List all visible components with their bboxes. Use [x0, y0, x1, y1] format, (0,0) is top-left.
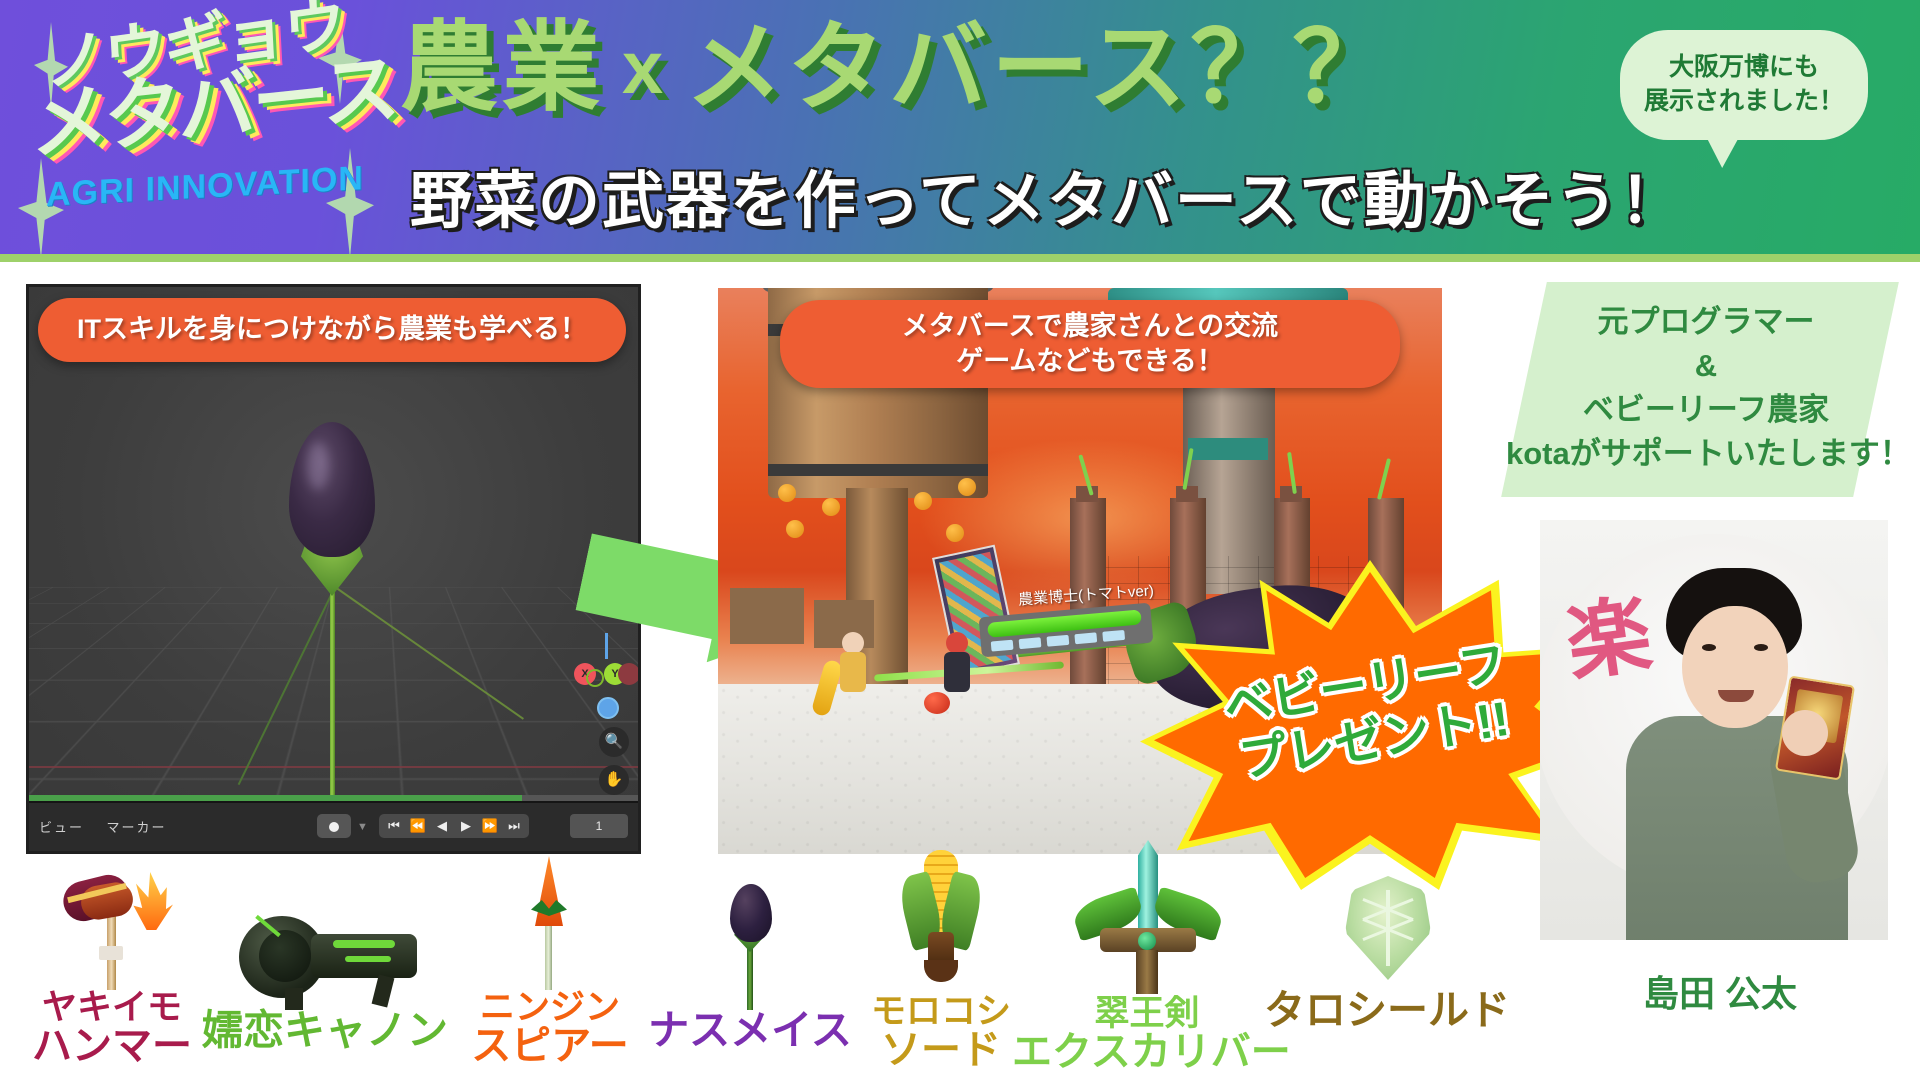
- scene-barrel-band: [768, 464, 988, 476]
- weapon-label: タロシールド: [1262, 990, 1512, 1032]
- suiou-excalibur-icon: [1052, 840, 1242, 996]
- avatar: [940, 632, 974, 702]
- gizmo-z-axis[interactable]: [597, 697, 619, 719]
- page-title: 農業xメタバース？？: [400, 16, 1580, 119]
- weapon-label-line2: タロシールド: [1262, 990, 1512, 1032]
- gizmo-x-negative[interactable]: [618, 663, 638, 685]
- profile-line-4: kotaがサポートいたします！: [1506, 432, 1906, 476]
- scene-stall: [730, 588, 804, 644]
- header-banner: ノウギョウ メタバース AGRI INNOVATION 農業xメタバース？？ 野…: [0, 0, 1920, 262]
- model-eggplant-stem: [330, 587, 335, 799]
- avatar-body: [840, 652, 866, 692]
- scene-orb: [786, 520, 804, 538]
- weapon-label-line1: モロコシ: [848, 994, 1034, 1030]
- record-button[interactable]: [317, 814, 351, 838]
- taro-shield-icon: [1327, 872, 1447, 990]
- menu-marker[interactable]: マーカー: [106, 820, 166, 835]
- weapon-item: 翠王剣 エクスカリバー: [1012, 840, 1282, 1072]
- weapon-label-line1: 翠王剣: [1012, 996, 1282, 1032]
- title-part-1: 農業: [400, 12, 604, 122]
- left-feature-text: ITスキルを身につけながら農業も学べる！: [77, 312, 587, 347]
- tsumagoi-cannon-icon: [225, 900, 425, 1010]
- scene-merlon: [1176, 486, 1198, 502]
- nasu-mace-icon: [690, 884, 810, 1010]
- profile-line-3: ベビーリーフ農家: [1506, 388, 1906, 432]
- scene-orb: [778, 484, 796, 502]
- gizmo-y-negative[interactable]: [586, 669, 604, 687]
- page-subtitle: 野菜の武器を作ってメタバースで動かそう！: [410, 150, 1610, 240]
- morokoshi-sword-icon: [876, 848, 1006, 994]
- menu-view[interactable]: ビュー: [39, 820, 84, 835]
- weapon-label: ニンジン スピアー: [462, 990, 638, 1066]
- weapon-item: モロコシ ソード: [848, 848, 1034, 1070]
- scene-sprout: [1377, 458, 1391, 500]
- weapon-label-line2: エクスカリバー: [1012, 1032, 1282, 1073]
- profile-line-1: 元プログラマー: [1506, 300, 1906, 344]
- weapon-label-line2: ハンマー: [14, 1026, 210, 1067]
- jump-end-icon[interactable]: ⏭: [503, 818, 525, 834]
- title-part-2: メタバース？？: [685, 12, 1394, 122]
- avatar-head: [842, 632, 864, 654]
- bubble-tail: [1696, 132, 1742, 168]
- hud-slot: [1074, 632, 1097, 644]
- scene-orb: [914, 492, 932, 510]
- left-feature-banner: ITスキルを身につけながら農業も学べる！: [38, 298, 626, 362]
- current-frame-field[interactable]: 1: [570, 814, 628, 838]
- weapon-label: モロコシ ソード: [848, 994, 1034, 1070]
- hand-icon[interactable]: ✋: [599, 765, 629, 795]
- yakiimo-hammer-icon: [37, 872, 187, 990]
- hud-slot: [1102, 630, 1125, 642]
- presenter-photo: 楽: [1540, 520, 1888, 940]
- header-bottom-band: [0, 254, 1920, 262]
- logo-tagline: AGRI INNOVATION: [46, 160, 346, 215]
- expo-callout-bubble: 大阪万博にも 展示されました！: [1620, 30, 1868, 140]
- transport-controls[interactable]: ⏮ ⏪ ◀ ▶ ⏩ ⏭: [379, 814, 529, 838]
- weapon-label-line2: ソード: [848, 1030, 1034, 1071]
- weapon-label-line1: ヤキイモ: [14, 990, 210, 1026]
- photo-hand: [1782, 710, 1828, 756]
- photo-eye: [1702, 644, 1716, 651]
- right-feature-line-2: ゲームなどもできる！: [956, 344, 1224, 379]
- scene-orb: [958, 478, 976, 496]
- weapon-lineup: ヤキイモ ハンマー 嬬恋キャノン: [0, 862, 1530, 1080]
- photo-face: [1682, 606, 1788, 728]
- next-keyframe-icon[interactable]: ⏩: [479, 818, 501, 834]
- scene-orb: [946, 524, 964, 542]
- weapon-label-line2: スピアー: [462, 1026, 638, 1067]
- model-eggplant-body: [289, 422, 375, 557]
- blender-timeline-bar: ビュー マーカー ▼ ⏮ ⏪ ◀ ▶ ⏩ ⏭ 1: [29, 801, 638, 851]
- weapon-label: 翠王剣 エクスカリバー: [1012, 996, 1282, 1072]
- zoom-icon[interactable]: 🔍: [599, 727, 629, 757]
- profile-description: 元プログラマー & ベビーリーフ農家 kotaがサポートいたします！: [1506, 300, 1906, 476]
- photo-eye: [1754, 644, 1768, 651]
- play-reverse-icon[interactable]: ◀: [431, 818, 453, 834]
- timeline-menus[interactable]: ビュー マーカー: [39, 817, 166, 836]
- title-x-symbol: x: [604, 26, 685, 109]
- avatar-head: [946, 632, 968, 654]
- weapon-item: 嬬恋キャノン: [200, 900, 450, 1052]
- avatar: [836, 632, 870, 702]
- hud-slot: [1019, 637, 1042, 649]
- jump-start-icon[interactable]: ⏮: [383, 818, 405, 834]
- prev-keyframe-icon[interactable]: ⏪: [407, 818, 429, 834]
- weapon-item: ニンジン スピアー: [462, 854, 638, 1066]
- weapon-label: 嬬恋キャノン: [200, 1010, 450, 1052]
- bubble-line-2: 展示されました！: [1644, 85, 1844, 119]
- weapon-item: ヤキイモ ハンマー: [14, 872, 210, 1066]
- weapon-label: ヤキイモ ハンマー: [14, 990, 210, 1066]
- model-eggplant-highlight: [307, 442, 329, 490]
- scene-orb: [822, 498, 840, 516]
- weapon-item: タロシールド: [1262, 872, 1512, 1032]
- gizmo-z-stem: [605, 633, 608, 659]
- blender-viewport: X Y 🔍 ✋ 📷 ▦: [29, 287, 638, 805]
- viewport-axis-gizmo[interactable]: X Y: [574, 657, 638, 691]
- weapon-label-line2: ナスメイス: [640, 1010, 860, 1052]
- presenter-name: 島田 公太: [1560, 965, 1880, 1017]
- avatar-body: [944, 652, 970, 692]
- weapon-label: ナスメイス: [640, 1010, 860, 1052]
- blender-screenshot: X Y 🔍 ✋ 📷 ▦ ビュー マーカー ▼ ⏮: [26, 284, 641, 854]
- profile-line-2: &: [1506, 344, 1906, 388]
- hud-slot: [1047, 635, 1070, 647]
- bubble-line-1: 大阪万博にも: [1669, 51, 1819, 85]
- right-feature-banner: メタバースで農家さんとの交流 ゲームなどもできる！: [780, 300, 1400, 388]
- scene-merlon: [1280, 486, 1302, 502]
- scene-tower-sign: [1188, 438, 1268, 460]
- hud-slot: [991, 640, 1014, 652]
- promo-poster: ノウギョウ メタバース AGRI INNOVATION 農業xメタバース？？ 野…: [0, 0, 1920, 1080]
- weapon-label-line1: ニンジン: [462, 990, 638, 1026]
- ninjin-spear-icon: [495, 854, 605, 990]
- brand-logo: ノウギョウ メタバース AGRI INNOVATION: [26, 8, 356, 248]
- chevron-down-icon[interactable]: ▼: [357, 821, 368, 833]
- weapon-item: ナスメイス: [640, 884, 860, 1052]
- photo-kanji-decor: 楽: [1558, 567, 1658, 699]
- weapon-label-line2: 嬬恋キャノン: [200, 1010, 450, 1052]
- right-feature-line-1: メタバースで農家さんとの交流: [902, 309, 1278, 344]
- play-icon[interactable]: ▶: [455, 818, 477, 834]
